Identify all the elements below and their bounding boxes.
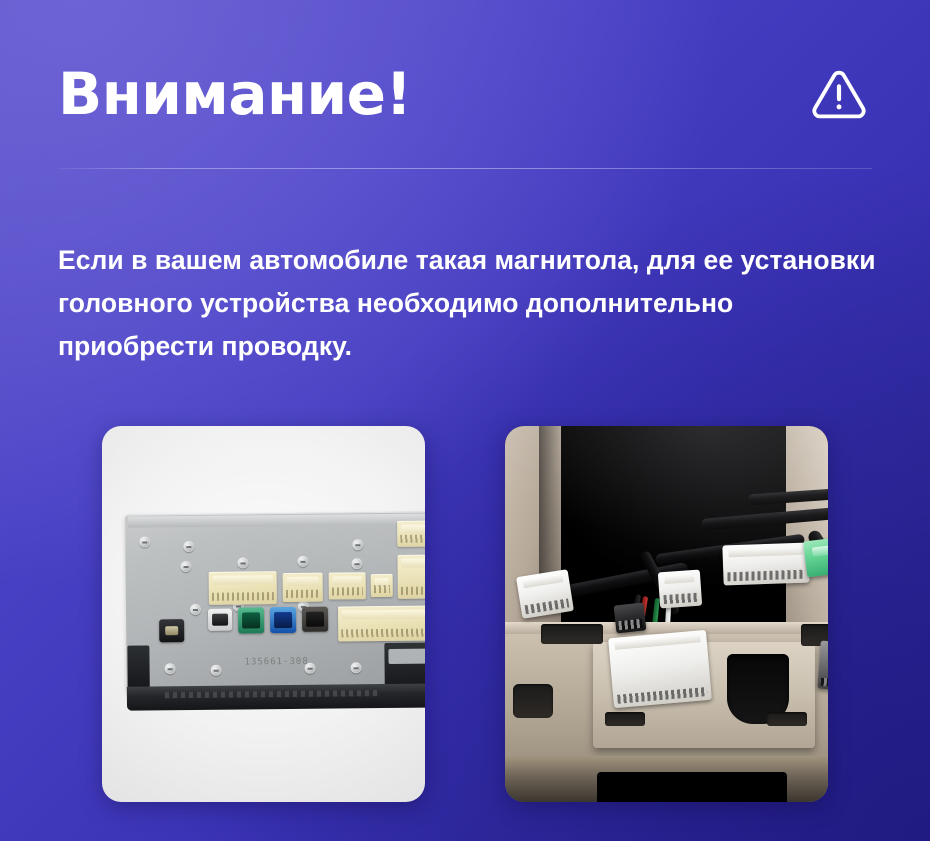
dashboard-vent-slot <box>767 712 807 726</box>
black-harness-plug <box>614 603 647 634</box>
slide-header: Внимание! <box>58 52 872 136</box>
chassis-screw <box>180 561 191 572</box>
antenna-connector <box>159 619 184 642</box>
head-unit-rear-photo: 135661-308 <box>102 426 425 802</box>
chassis-screw <box>352 539 363 550</box>
head-unit-illustration: 135661-308 <box>102 426 425 802</box>
page-title: Внимание! <box>58 64 411 125</box>
chassis-screw <box>237 557 248 568</box>
chassis-right-bracket <box>384 642 425 686</box>
cream-connector-wide <box>338 606 425 642</box>
green-harness-plug <box>803 535 828 578</box>
blue-av-connector <box>270 607 296 633</box>
green-av-connector <box>238 607 264 633</box>
chassis-screw <box>165 663 176 674</box>
chassis-screw <box>351 558 362 569</box>
chassis-screw <box>190 604 201 615</box>
white-harness-plug <box>516 569 574 619</box>
dashboard-vent-slot <box>541 624 603 644</box>
chassis-screw <box>183 541 194 552</box>
cream-connector <box>397 521 425 547</box>
chassis-screw <box>139 536 150 547</box>
wiring-harness-photo <box>505 426 828 802</box>
header-divider <box>58 168 872 169</box>
body-text: Если в вашем автомобиле такая магнитола,… <box>58 239 876 368</box>
warning-triangle-icon <box>810 65 868 123</box>
cream-connector <box>209 571 277 605</box>
chassis-screw <box>351 662 362 673</box>
dashboard-lower-opening <box>597 772 787 802</box>
dashboard-vent-slot <box>513 684 553 718</box>
white-av-connector <box>208 609 232 631</box>
chassis-left-bracket <box>127 645 149 687</box>
cream-connector <box>397 555 425 599</box>
white-harness-plug <box>658 570 702 609</box>
wiring-harness-illustration <box>505 426 828 802</box>
dashboard-vent-slot <box>605 712 645 726</box>
cream-connector <box>283 573 323 602</box>
photo-row: 135661-308 <box>62 410 868 786</box>
cream-connector <box>329 572 366 599</box>
chassis-part-number: 135661-308 <box>244 657 308 668</box>
chassis-screw <box>211 665 222 676</box>
chassis-screw <box>297 556 308 567</box>
warning-slide: Внимание! Если в вашем автомобиле такая … <box>0 0 930 841</box>
large-white-harness-plug <box>608 630 712 708</box>
black-av-connector <box>302 607 328 632</box>
cream-connector <box>371 574 393 597</box>
head-unit-body: 135661-308 <box>125 511 425 710</box>
white-harness-plug-wide <box>722 543 809 586</box>
